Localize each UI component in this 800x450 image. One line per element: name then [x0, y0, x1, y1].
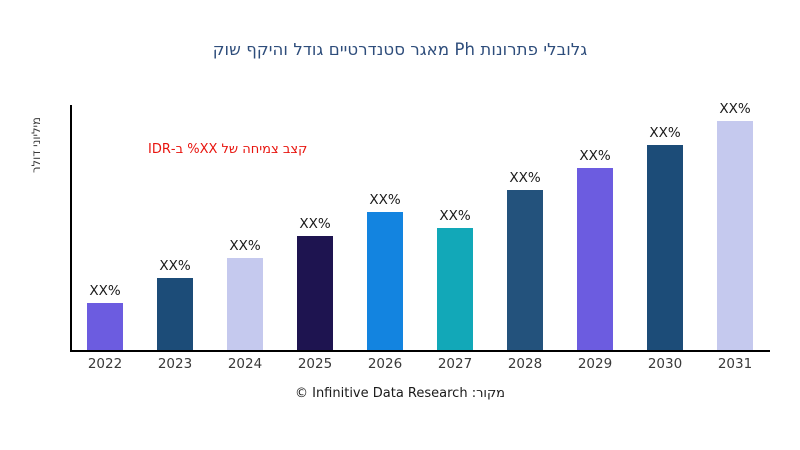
bar-value-label-2029: XX%: [579, 148, 610, 164]
chart-container: גלובלי פתרונות Ph מאגר סטנדרטיים גודל וה…: [0, 0, 800, 450]
bar-value-label-2023: XX%: [159, 258, 190, 274]
bar-2027[interactable]: [437, 228, 473, 350]
bar-group-2027[interactable]: XX%: [420, 105, 490, 350]
bar-group-2022[interactable]: XX%: [70, 105, 140, 350]
bar-value-label-2027: XX%: [439, 208, 470, 224]
bar-value-label-2031: XX%: [719, 101, 750, 117]
x-tick-2026: 2026: [368, 356, 402, 372]
bar-2022[interactable]: [87, 303, 123, 350]
bar-group-2029[interactable]: XX%: [560, 105, 630, 350]
bar-value-label-2024: XX%: [229, 238, 260, 254]
bar-value-label-2022: XX%: [89, 283, 120, 299]
x-tick-2030: 2030: [648, 356, 682, 372]
bar-2029[interactable]: [577, 168, 613, 350]
bar-value-label-2028: XX%: [509, 170, 540, 186]
x-tick-2024: 2024: [228, 356, 262, 372]
bar-group-2028[interactable]: XX%: [490, 105, 560, 350]
x-tick-2022: 2022: [88, 356, 122, 372]
bar-value-label-2025: XX%: [299, 216, 330, 232]
bar-2025[interactable]: [297, 236, 333, 350]
bar-2031[interactable]: [717, 121, 753, 350]
y-axis-label: מיליוני דולר: [29, 95, 43, 195]
x-tick-2029: 2029: [578, 356, 612, 372]
x-tick-2027: 2027: [438, 356, 472, 372]
growth-rate-annotation: קצב צמיחה של XX% ב-IDR: [148, 142, 307, 157]
bar-2023[interactable]: [157, 278, 193, 350]
bar-group-2026[interactable]: XX%: [350, 105, 420, 350]
bar-group-2030[interactable]: XX%: [630, 105, 700, 350]
x-tick-2025: 2025: [298, 356, 332, 372]
x-tick-2031: 2031: [718, 356, 752, 372]
chart-title: גלובלי פתרונות Ph מאגר סטנדרטיים גודל וה…: [0, 40, 800, 59]
bar-value-label-2026: XX%: [369, 192, 400, 208]
source-footer: מקור: Infinitive Data Research ©: [0, 386, 800, 401]
bar-2024[interactable]: [227, 258, 263, 350]
x-tick-2023: 2023: [158, 356, 192, 372]
bar-2030[interactable]: [647, 145, 683, 350]
bar-2026[interactable]: [367, 212, 403, 350]
bar-2028[interactable]: [507, 190, 543, 350]
bar-group-2031[interactable]: XX%: [700, 105, 770, 350]
x-tick-2028: 2028: [508, 356, 542, 372]
bar-value-label-2030: XX%: [649, 125, 680, 141]
x-axis-line: [70, 350, 770, 352]
